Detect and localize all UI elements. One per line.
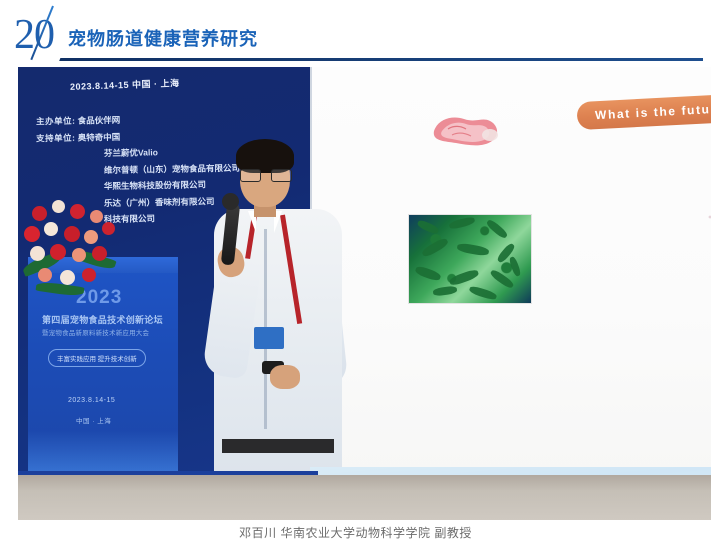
speaker-right-hand [270, 365, 300, 389]
photo-caption: 邓百川 华南农业大学动物科学学院 副教授 [0, 524, 711, 542]
backdrop-date-location: 2023.8.14-15 中国 · 上海 [70, 77, 180, 93]
stage-floor [18, 475, 711, 520]
conference-photo: 2023.8.14-15 中国 · 上海 主办单位: 食品伙伴网 支持单位: 奥… [18, 67, 711, 520]
podium-forum-subtitle: 暨宠物食品新原料新技术新应用大会 [42, 327, 149, 337]
sponsor-value: 芬兰蔚优Valio [104, 147, 158, 158]
header-divider [48, 58, 703, 61]
podium-slogan-tag: 丰富实践应用 提升技术创新 [48, 349, 146, 367]
page-title: 宠物肠道健康营养研究 [68, 28, 258, 50]
microphone-head-icon [222, 193, 239, 210]
speaker-person [204, 129, 356, 475]
sponsor-value: 华熙生物科技股份有限公司 [104, 179, 206, 191]
flower-arrangement [18, 192, 126, 312]
question-pill-text: What is the futu [595, 101, 711, 123]
sponsor-value: 奥特奇中国 [78, 131, 121, 142]
speaker-belt [222, 439, 334, 453]
glasses-icon [240, 169, 290, 180]
teal-curve-decoration [602, 67, 711, 475]
podium-city: 中国 · 上海 [76, 415, 111, 425]
podium-forum-name: 第四届宠物食品技术创新论坛 [42, 313, 163, 326]
header-flag-decoration [39, 52, 63, 66]
sponsor-label: 支持单位: [36, 132, 76, 143]
speaker-badge [254, 327, 284, 349]
intestine-illustration [428, 109, 506, 151]
slide-header: 20 宠物肠道健康营养研究 [0, 0, 711, 66]
sponsor-label: 主办单位: [36, 116, 76, 127]
sponsor-value: 食品伙伴网 [78, 115, 121, 126]
podium-date: 2023.8.14-15 [68, 397, 115, 404]
bacteria-micrograph-image [408, 214, 532, 304]
speaker-hair [236, 139, 294, 173]
slide-root: 20 宠物肠道健康营养研究 2023.8.14-15 中国 · 上海 主办单位:… [0, 0, 711, 559]
